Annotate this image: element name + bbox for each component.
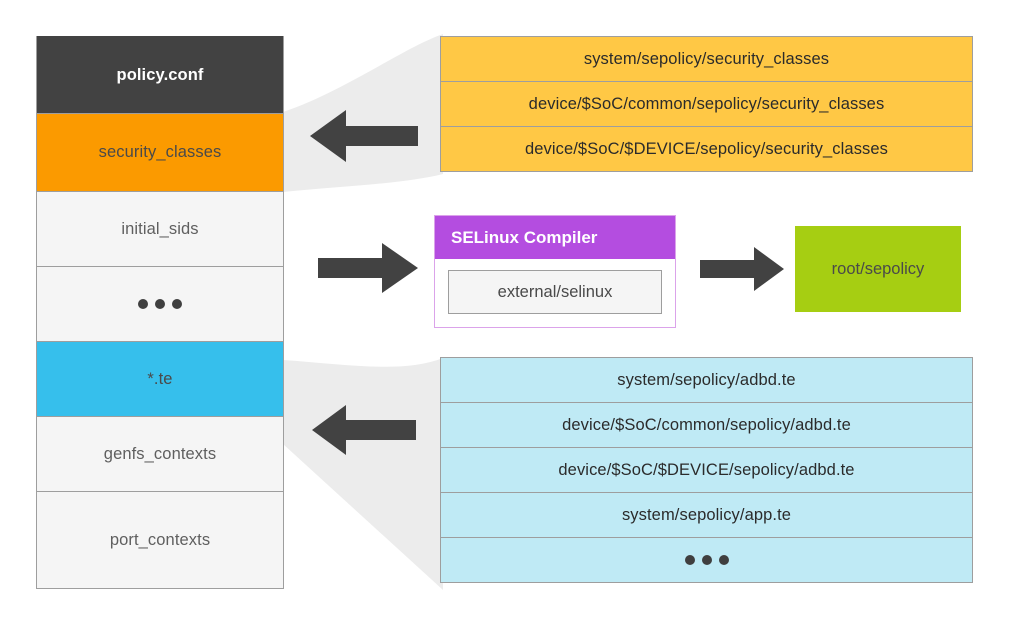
arrow-left-icon-te-files — [312, 405, 416, 455]
arrow-right-icon-output — [700, 247, 784, 291]
policy-row-initial-sids: initial_sids — [37, 191, 283, 266]
policy-row-security-classes[interactable]: security_classes — [37, 113, 283, 191]
table-row: system/sepolicy/app.te — [441, 492, 972, 537]
diagram-canvas: policy.conf security_classes initial_sid… — [0, 0, 1013, 618]
root-sepolicy-output-box: root/sepolicy — [795, 226, 961, 312]
selinux-compiler-body: external/selinux — [435, 259, 675, 327]
policy-row-port-contexts: port_contexts — [37, 491, 283, 588]
table-row-ellipsis — [441, 537, 972, 582]
table-row: device/$SoC/common/sepolicy/adbd.te — [441, 402, 972, 447]
table-row: system/sepolicy/adbd.te — [441, 357, 972, 402]
table-row: device/$SoC/$DEVICE/sepolicy/security_cl… — [441, 126, 972, 171]
policy-row-ellipsis — [37, 266, 283, 341]
security-classes-file-table: system/sepolicy/security_classes device/… — [440, 36, 973, 172]
policy-row-te[interactable]: *.te — [37, 341, 283, 416]
te-files-funnel — [283, 352, 443, 592]
table-row: system/sepolicy/security_classes — [441, 36, 972, 81]
te-files-table: system/sepolicy/adbd.te device/$SoC/comm… — [440, 357, 973, 583]
selinux-compiler-title: SELinux Compiler — [435, 216, 675, 259]
policy-row-genfs-contexts: genfs_contexts — [37, 416, 283, 491]
ellipsis-dots-icon — [685, 555, 729, 565]
table-row: device/$SoC/$DEVICE/sepolicy/adbd.te — [441, 447, 972, 492]
ellipsis-dots-icon — [138, 299, 182, 309]
policy-conf-column: policy.conf security_classes initial_sid… — [36, 36, 284, 589]
arrow-left-icon-security-classes — [310, 110, 418, 162]
arrow-right-icon-compile — [318, 243, 418, 293]
table-row: device/$SoC/common/sepolicy/security_cla… — [441, 81, 972, 126]
policy-conf-header: policy.conf — [37, 36, 283, 113]
external-selinux-box: external/selinux — [448, 270, 662, 314]
selinux-compiler-box: SELinux Compiler external/selinux — [434, 215, 676, 328]
